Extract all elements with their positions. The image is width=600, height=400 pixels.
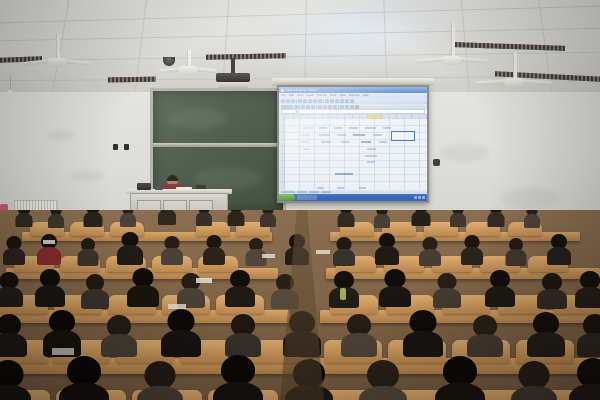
- toolbar-zoom-icon[interactable]: [350, 99, 354, 103]
- cell-content: [359, 187, 366, 189]
- cell-content: [334, 127, 342, 129]
- ceiling-fan-left: [30, 34, 84, 70]
- audience-member: [204, 235, 224, 264]
- auditorium-seating: [0, 210, 600, 400]
- cell-content: [335, 173, 353, 175]
- cell-content: [361, 141, 371, 143]
- cell-content: [349, 127, 358, 129]
- column-header-f[interactable]: [353, 115, 368, 119]
- column-header-d[interactable]: [323, 115, 338, 119]
- paper-on-desk: [262, 254, 275, 258]
- windows-taskbar[interactable]: [279, 194, 427, 201]
- italic-icon[interactable]: [306, 105, 310, 109]
- borders-icon[interactable]: [350, 105, 354, 109]
- audience-member: [214, 355, 262, 400]
- audience-member: [226, 270, 254, 306]
- audience-member: [38, 234, 60, 264]
- status-text: [281, 191, 295, 193]
- audience-member: [420, 237, 440, 265]
- audience-member: [158, 210, 176, 226]
- laptop-on-podium: [137, 183, 151, 190]
- column-header-e[interactable]: [338, 115, 353, 119]
- ceiling-projector: [216, 58, 250, 92]
- audience-member: [524, 210, 540, 227]
- paper-on-desk: [316, 250, 330, 254]
- cell-content: [301, 141, 309, 143]
- sheet-tab-1[interactable]: [297, 191, 307, 193]
- merge-cells-icon[interactable]: [333, 105, 337, 109]
- audience-member: [196, 210, 212, 226]
- toolbar-preview-icon[interactable]: [303, 99, 307, 103]
- paper-on-desk: [43, 240, 55, 244]
- align-left-icon[interactable]: [318, 105, 322, 109]
- font-family-selector[interactable]: [281, 105, 293, 109]
- cell-content: [353, 134, 365, 136]
- cell-content: [301, 134, 310, 136]
- bold-icon[interactable]: [301, 105, 305, 109]
- audience-member: [338, 210, 354, 226]
- audience-member: [342, 314, 376, 356]
- cell-content: [365, 155, 377, 157]
- audience-member: [380, 269, 410, 306]
- audience-member: [4, 236, 24, 264]
- toolbar-cut-icon[interactable]: [308, 99, 312, 103]
- cell-content: [303, 148, 310, 150]
- audience-member: [570, 358, 600, 400]
- cell-content: [303, 127, 313, 129]
- audience-member: [226, 314, 260, 356]
- toolbar-separator: [338, 105, 339, 109]
- start-button[interactable]: [279, 194, 295, 201]
- toolbar-sort-icon[interactable]: [340, 99, 344, 103]
- fill-color-icon[interactable]: [355, 105, 359, 109]
- audience-member: [360, 360, 406, 400]
- cell-content: [337, 134, 346, 136]
- chalkboard-divider: [153, 143, 283, 147]
- audience-member: [436, 356, 484, 400]
- font-size-selector[interactable]: [294, 105, 300, 109]
- toolbar-undo-icon[interactable]: [325, 99, 329, 103]
- percent-icon[interactable]: [345, 105, 349, 109]
- wall-outlet-2: [124, 144, 129, 150]
- tray-clock: [422, 196, 425, 199]
- audience-member: [260, 210, 276, 227]
- underline-icon[interactable]: [311, 105, 315, 109]
- app-icon: [281, 89, 284, 92]
- toolbar-separator: [323, 99, 324, 103]
- sheet-tab-2[interactable]: [309, 191, 319, 193]
- audience-member: [538, 273, 566, 307]
- audience-member: [434, 273, 460, 307]
- cell-content: [337, 187, 344, 189]
- audience-member: [374, 210, 390, 227]
- tray-icon[interactable]: [418, 196, 421, 199]
- taskbar-item-excel[interactable]: [297, 195, 317, 200]
- cell-content: [383, 127, 391, 129]
- audience-member: [548, 234, 570, 264]
- name-box[interactable]: [281, 109, 297, 114]
- audience-member: [162, 236, 182, 264]
- audience-member: [120, 210, 136, 227]
- audience-member: [462, 235, 482, 264]
- cell-content: [373, 134, 382, 136]
- toolbar-redo-icon[interactable]: [330, 99, 334, 103]
- audience-member: [84, 210, 102, 226]
- cell-content: [319, 134, 330, 136]
- audience-member: [128, 268, 158, 306]
- toolbar-open-icon[interactable]: [286, 99, 290, 103]
- audience-member: [138, 361, 182, 400]
- currency-icon[interactable]: [340, 105, 344, 109]
- notebook-on-desk: [52, 348, 74, 355]
- cell-content: [367, 161, 375, 163]
- audience-member: [486, 270, 514, 306]
- audience-member: [0, 360, 30, 400]
- cell-content: [321, 141, 331, 143]
- toolbar-paste-icon[interactable]: [318, 99, 322, 103]
- audience-member: [48, 210, 64, 228]
- audience-member: [450, 210, 466, 227]
- audience-member: [334, 237, 354, 265]
- papers-on-podium: [176, 187, 192, 190]
- audience-member: [404, 310, 442, 356]
- audience-member: [102, 315, 136, 356]
- audience-member: [578, 314, 600, 356]
- audience-member: [376, 233, 398, 264]
- toolbar-sum-icon[interactable]: [335, 99, 339, 103]
- column-header-g[interactable]: [368, 115, 383, 119]
- cell-content: [365, 127, 376, 129]
- audience-member: [246, 238, 266, 265]
- toolbar-separator: [316, 105, 317, 109]
- column-header-b[interactable]: [294, 115, 309, 119]
- audience-member: [576, 271, 600, 306]
- audience-member: [60, 356, 108, 400]
- sheet-tab-3[interactable]: [321, 191, 331, 193]
- cell-content: [379, 141, 387, 143]
- audience-member: [36, 269, 64, 306]
- align-right-icon[interactable]: [328, 105, 332, 109]
- formula-input[interactable]: [298, 109, 425, 114]
- toolbar-save-icon[interactable]: [291, 99, 295, 103]
- toolbar-print-icon[interactable]: [298, 99, 302, 103]
- podium-equipment: [155, 186, 163, 190]
- cell-content: [319, 127, 327, 129]
- audience-member: [228, 210, 244, 226]
- column-header-c[interactable]: [309, 115, 324, 119]
- tray-icon[interactable]: [414, 196, 417, 199]
- toolbar-new-icon[interactable]: [281, 99, 285, 103]
- align-center-icon[interactable]: [323, 105, 327, 109]
- microphone-on-podium: [196, 185, 206, 189]
- ceiling-fan-far-right: [486, 52, 542, 94]
- toolbar-separator: [296, 99, 297, 103]
- audience-member: [0, 272, 22, 306]
- ceiling-vent-2: [108, 77, 156, 83]
- ceiling-fan-center: [165, 50, 211, 78]
- audience-member: [0, 314, 26, 356]
- projection-screen: Microsoft Excel - Book1 File Edit View I…: [277, 85, 429, 203]
- ceiling-fan-right: [424, 22, 480, 68]
- toolbar-chart-icon[interactable]: [345, 99, 349, 103]
- audience-member: [16, 210, 32, 226]
- audience-member: [512, 361, 556, 400]
- wall-outlet-1: [113, 144, 118, 150]
- paper-on-desk: [168, 304, 186, 309]
- audience-member: [488, 210, 504, 226]
- wall-sensor: [433, 159, 440, 166]
- audience-member: [528, 312, 564, 356]
- spreadsheet-grid[interactable]: [279, 115, 427, 190]
- paper-on-desk: [196, 278, 212, 283]
- lecture-hall-photo: Microsoft Excel - Book1 File Edit View I…: [0, 0, 600, 400]
- selected-cell-range[interactable]: [391, 131, 415, 141]
- audience-member: [412, 210, 430, 226]
- audience-member: [468, 315, 502, 356]
- cell-content: [367, 148, 376, 150]
- bottle-on-desk: [340, 288, 346, 300]
- audience-member: [78, 238, 98, 265]
- audience-member: [162, 309, 200, 356]
- audience-member: [506, 238, 526, 265]
- cell-content: [317, 187, 324, 189]
- cell-content: [341, 141, 349, 143]
- audience-member: [118, 232, 142, 264]
- audience-member: [82, 274, 108, 307]
- system-tray[interactable]: [414, 196, 427, 199]
- toolbar-copy-icon[interactable]: [313, 99, 317, 103]
